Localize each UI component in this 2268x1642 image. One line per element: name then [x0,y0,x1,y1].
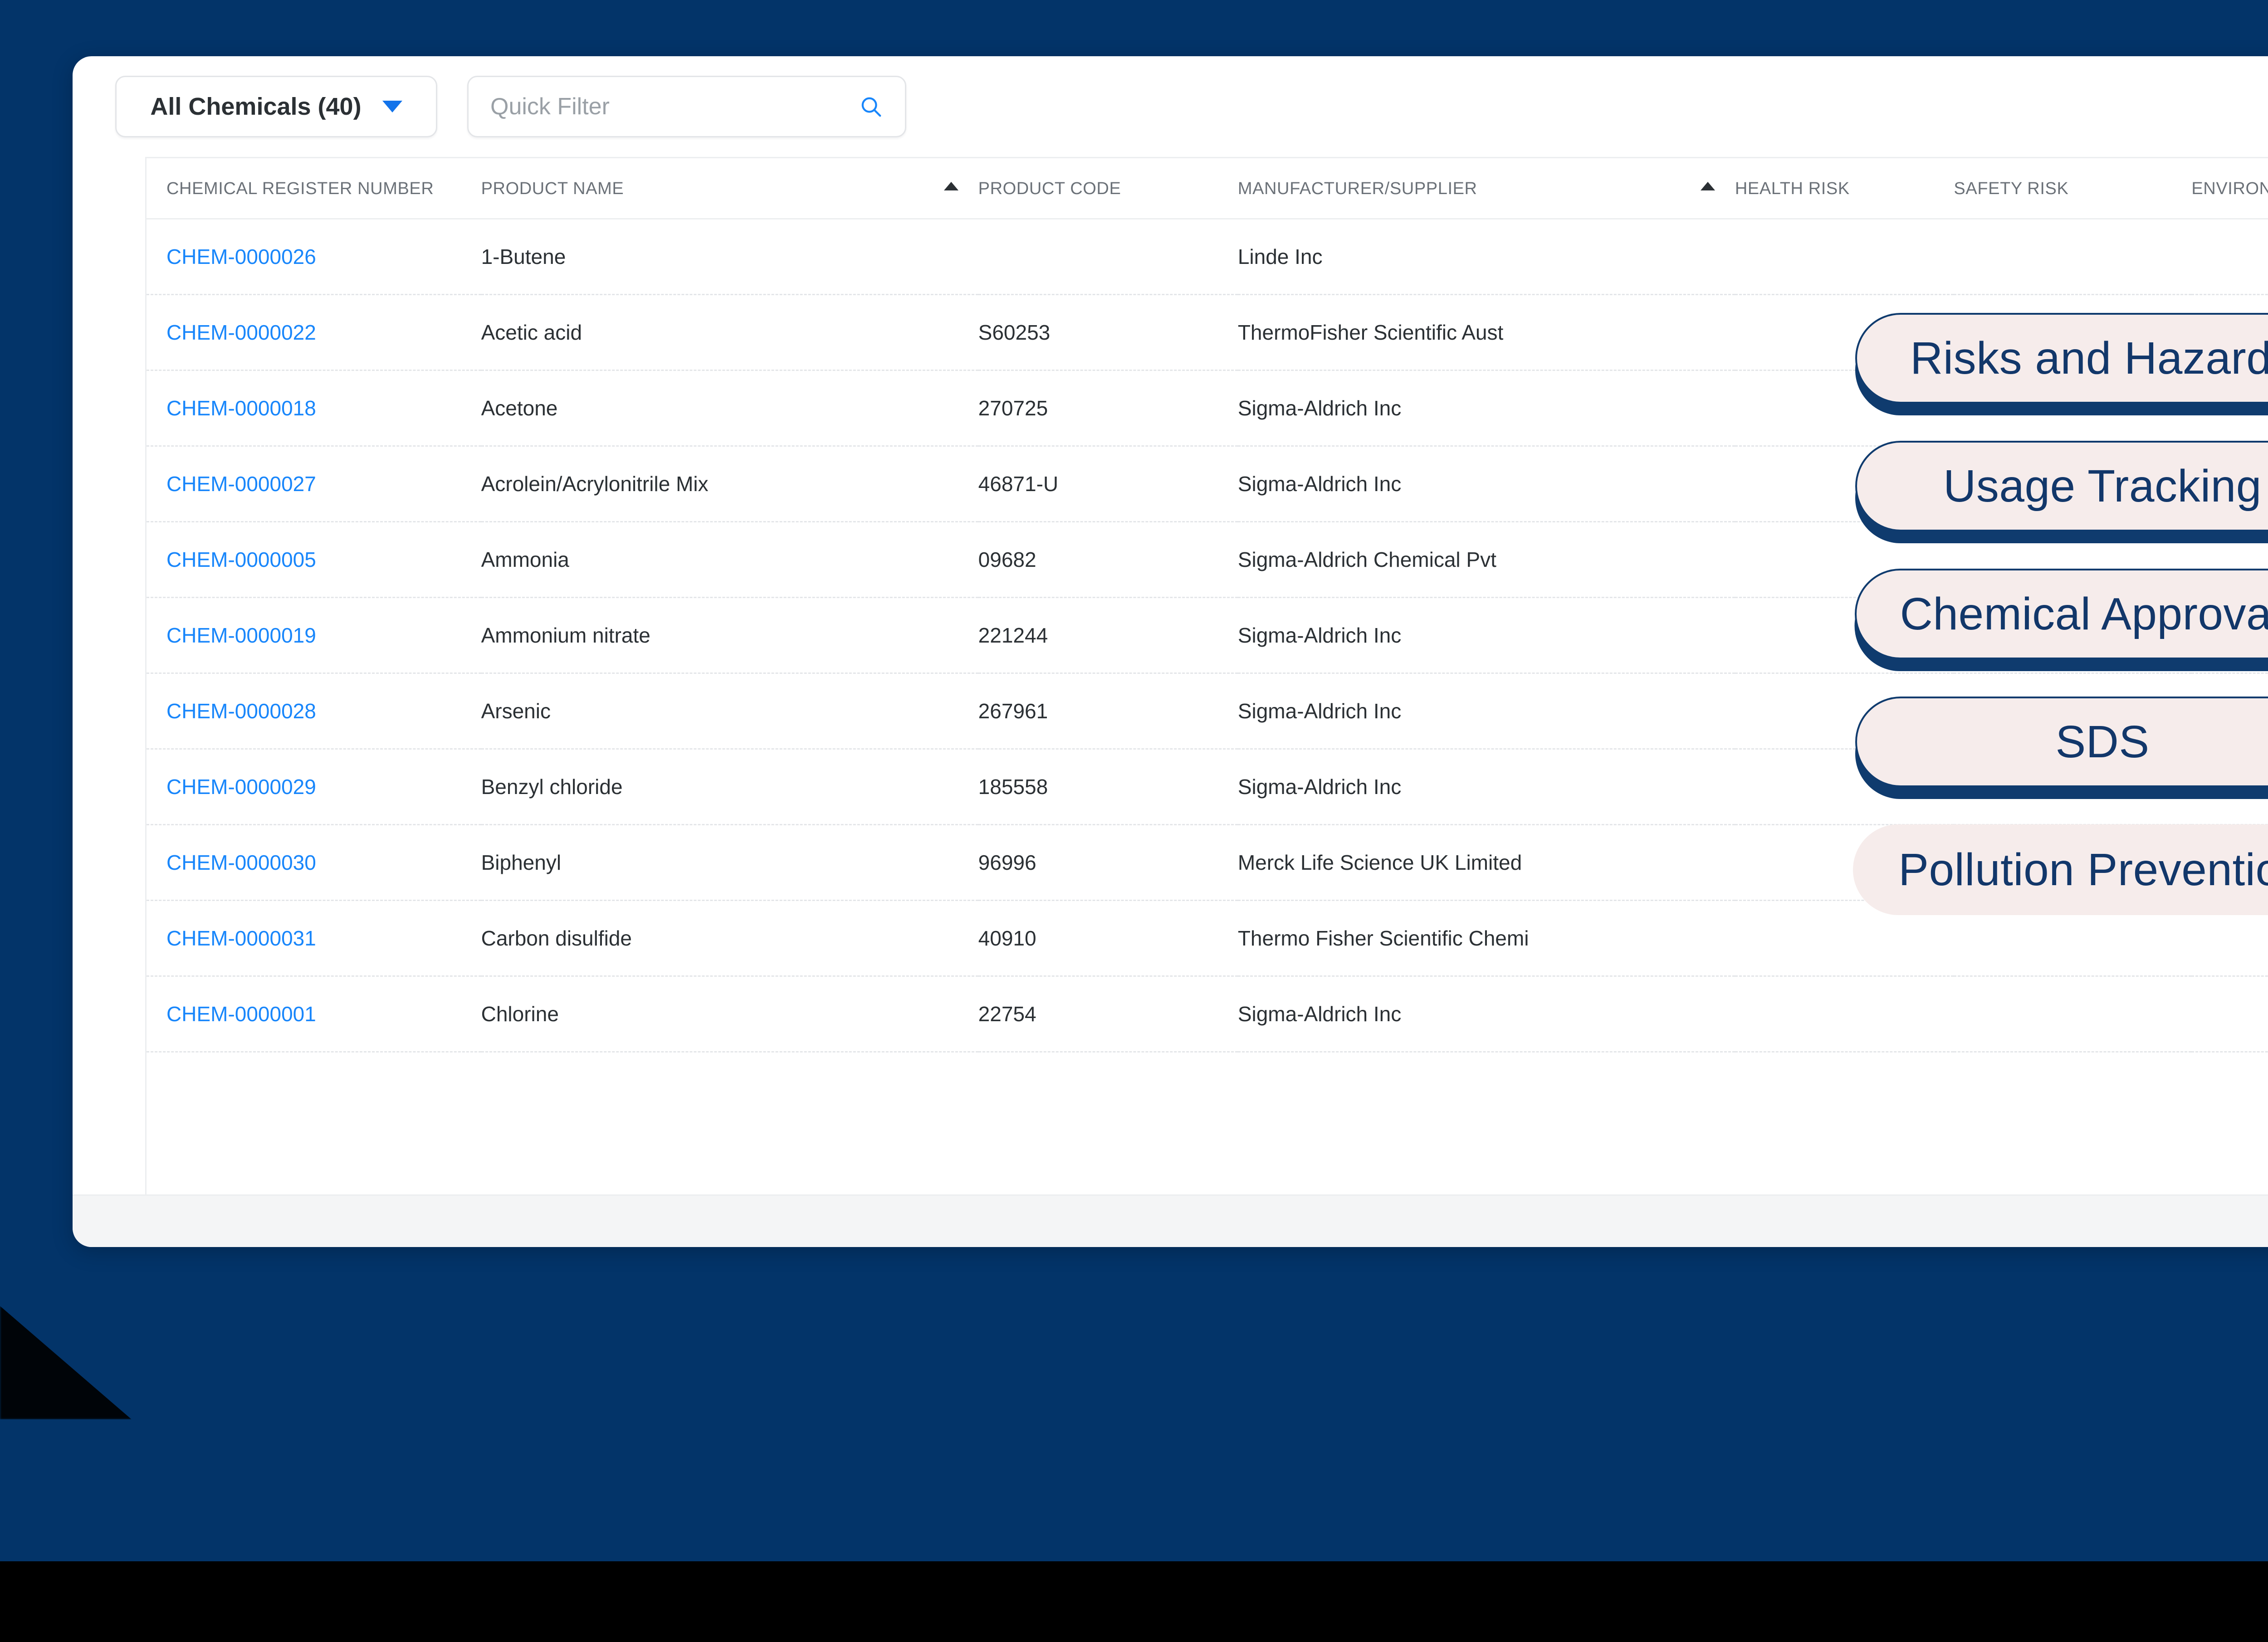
feature-pill[interactable]: Pollution Prevention [1581,824,2268,915]
chemical-register-number-link[interactable]: CHEM-0000031 [147,901,481,976]
column-label: PRODUCT NAME [481,177,919,200]
chemical-register-number-link[interactable]: CHEM-0000022 [147,295,481,370]
search-icon[interactable] [859,94,883,119]
column-header-chemical-register-number[interactable]: CHEMICAL REGISTER NUMBER [147,158,481,219]
chemical-register-number-link[interactable]: CHEM-0000028 [147,673,481,749]
cell-product_code: 09682 [978,522,1238,598]
quick-filter-box[interactable] [467,76,906,137]
all-chemicals-select[interactable]: All Chemicals (40) [115,76,437,137]
bottom-black-strip [0,1561,2268,1642]
sort-ascending-icon [1701,182,1715,190]
column-header-health-risk[interactable]: HEALTH RISK [1735,158,1954,219]
quick-filter-input[interactable] [490,93,859,120]
cell-manufacturer: Linde Inc [1238,219,1735,295]
chemical-register-number-link[interactable]: CHEM-0000027 [147,446,481,522]
cell-product_name: Ammonium nitrate [481,598,978,673]
chemical-register-number-link[interactable]: CHEM-0000001 [147,976,481,1052]
page-root: All Chemicals (40) New [0,0,2268,1642]
feature-pill[interactable]: Chemical Approvals [1581,569,2268,659]
chemical-register-number-link[interactable]: CHEM-0000026 [147,219,481,295]
decorative-corner-wedge [0,1306,132,1419]
column-label: HEALTH RISK [1735,177,1928,200]
sort-ascending-icon [944,182,958,190]
column-label: MANUFACTURER/SUPPLIER [1238,177,1676,200]
cell-product_code: 40910 [978,901,1238,976]
cell-product_code: S60253 [978,295,1238,370]
cell-product_name: Biphenyl [481,825,978,901]
cell-product_name: Arsenic [481,673,978,749]
chemical-register-number-link[interactable]: CHEM-0000029 [147,749,481,825]
column-label: PRODUCT CODE [978,177,1207,200]
feature-pill-body[interactable]: Usage Tracking [1855,441,2268,531]
cell-product_name: Acrolein/Acrylonitrile Mix [481,446,978,522]
cell-manufacturer: Sigma-Aldrich Inc [1238,976,1735,1052]
cell-environmental_risk [2191,976,2268,1052]
feature-pill-label: Chemical Approvals [1900,588,2268,640]
register-number-anchor[interactable]: CHEM-0000029 [166,775,316,799]
register-number-anchor[interactable]: CHEM-0000028 [166,699,316,723]
cell-product_name: Acetone [481,370,978,446]
feature-pill[interactable]: Risks and Hazards [1581,313,2268,404]
table-row[interactable]: CHEM-0000001Chlorine22754Sigma-Aldrich I… [147,976,2268,1052]
column-header-manufacturer-supplier[interactable]: MANUFACTURER/SUPPLIER [1238,158,1735,219]
column-label: CHEMICAL REGISTER NUMBER [166,177,443,200]
cell-product_name: Chlorine [481,976,978,1052]
table-toolbar: All Chemicals (40) New [73,56,2268,157]
cell-safety_risk [1954,976,2191,1052]
column-header-safety-risk[interactable]: SAFETY RISK [1954,158,2191,219]
register-number-anchor[interactable]: CHEM-0000031 [166,926,316,950]
register-number-anchor[interactable]: CHEM-0000005 [166,548,316,571]
all-chemicals-select-label: All Chemicals (40) [150,93,361,121]
feature-pill[interactable]: Usage Tracking [1581,441,2268,531]
feature-pill-body[interactable]: Chemical Approvals [1855,569,2268,659]
feature-pill-body[interactable]: Pollution Prevention [1853,824,2268,915]
register-number-anchor[interactable]: CHEM-0000027 [166,472,316,496]
cell-environmental_risk [2191,219,2268,295]
cell-product_code: 270725 [978,370,1238,446]
column-label: SAFETY RISK [1954,177,2163,200]
register-number-anchor[interactable]: CHEM-0000022 [166,321,316,344]
cell-product_code: 267961 [978,673,1238,749]
feature-pill-label: Risks and Hazards [1910,332,2268,385]
cell-product_code: 96996 [978,825,1238,901]
cell-product_name: Acetic acid [481,295,978,370]
cell-product_name: Ammonia [481,522,978,598]
feature-pill-body[interactable]: Risks and Hazards [1855,313,2268,404]
cell-product_code: 22754 [978,976,1238,1052]
feature-pill-label: Usage Tracking [1943,460,2262,512]
cell-safety_risk [1954,219,2191,295]
chemical-register-number-link[interactable]: CHEM-0000019 [147,598,481,673]
cell-health_risk [1735,976,1954,1052]
feature-pill-body[interactable]: SDS [1855,697,2268,787]
column-label: ENVIRONMENTAL RISK [2191,177,2268,200]
cell-product_code: 185558 [978,749,1238,825]
feature-pill-label: SDS [2055,716,2149,768]
table-header-row: CHEMICAL REGISTER NUMBER PRODUCT NAME PR… [147,158,2268,219]
cell-product_code: 46871-U [978,446,1238,522]
cell-product_name: 1-Butene [481,219,978,295]
register-number-anchor[interactable]: CHEM-0000026 [166,245,316,268]
cell-product_code [978,219,1238,295]
column-header-product-name[interactable]: PRODUCT NAME [481,158,978,219]
feature-pill-stack: Risks and HazardsUsage TrackingChemical … [1581,313,2268,952]
cell-product_code: 221244 [978,598,1238,673]
table-row[interactable]: CHEM-00000261-ButeneLinde Inc05/2022 [147,219,2268,295]
table-head: CHEMICAL REGISTER NUMBER PRODUCT NAME PR… [147,158,2268,219]
cell-product_name: Benzyl chloride [481,749,978,825]
register-number-anchor[interactable]: CHEM-0000030 [166,851,316,874]
feature-pill[interactable]: SDS [1581,697,2268,787]
cell-product_name: Carbon disulfide [481,901,978,976]
column-header-product-code[interactable]: PRODUCT CODE [978,158,1238,219]
register-number-anchor[interactable]: CHEM-0000019 [166,624,316,647]
cell-health_risk [1735,219,1954,295]
chevron-down-icon [382,101,402,112]
column-header-environmental-risk[interactable]: ENVIRONMENTAL RISK [2191,158,2268,219]
table-footer-bar [73,1194,2268,1247]
register-number-anchor[interactable]: CHEM-0000001 [166,1002,316,1026]
register-number-anchor[interactable]: CHEM-0000018 [166,396,316,420]
chemical-register-number-link[interactable]: CHEM-0000005 [147,522,481,598]
chemical-register-number-link[interactable]: CHEM-0000018 [147,370,481,446]
feature-pill-label: Pollution Prevention [1898,844,2268,896]
chemical-register-number-link[interactable]: CHEM-0000030 [147,825,481,901]
